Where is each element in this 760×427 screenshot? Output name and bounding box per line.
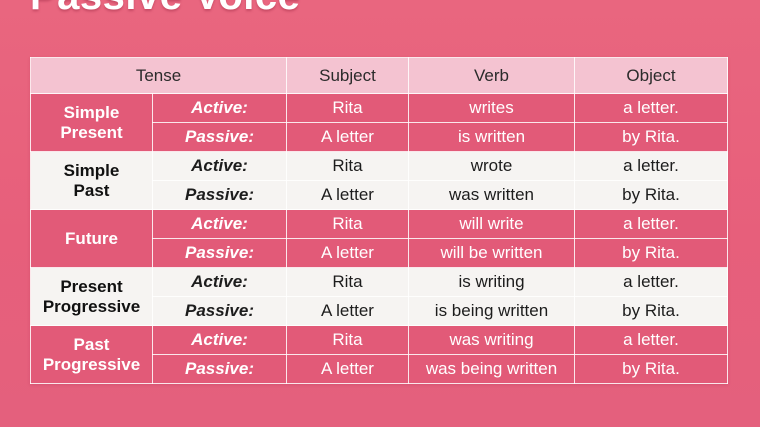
- table-header: Tense Subject Verb Object: [31, 58, 728, 94]
- table-row: FutureActive:Ritawill writea letter.: [31, 210, 728, 239]
- voice-label: Active:: [153, 94, 287, 123]
- voice-label: Passive:: [153, 355, 287, 384]
- tense-label: PresentProgressive: [31, 268, 153, 326]
- verb-cell: is writing: [409, 268, 575, 297]
- voice-label: Passive:: [153, 181, 287, 210]
- verb-cell: will be written: [409, 239, 575, 268]
- table-body: SimplePresentActive:Ritawritesa letter.P…: [31, 94, 728, 384]
- object-cell: by Rita.: [575, 355, 728, 384]
- object-cell: a letter.: [575, 268, 728, 297]
- subject-cell: A letter: [287, 181, 409, 210]
- column-header-tense: Tense: [31, 58, 287, 94]
- voice-label: Active:: [153, 326, 287, 355]
- table-header-row: Tense Subject Verb Object: [31, 58, 728, 94]
- object-cell: by Rita.: [575, 181, 728, 210]
- tense-label-line1: Past: [31, 335, 152, 355]
- subject-cell: A letter: [287, 123, 409, 152]
- tense-label: PastProgressive: [31, 326, 153, 384]
- tense-label-line2: Progressive: [31, 297, 152, 317]
- voice-label: Active:: [153, 152, 287, 181]
- tense-label: SimplePresent: [31, 94, 153, 152]
- verb-cell: will write: [409, 210, 575, 239]
- slide-canvas: Passive Voice Tense Subject Verb Object …: [0, 0, 760, 427]
- object-cell: by Rita.: [575, 239, 728, 268]
- table-row: SimplePresentActive:Ritawritesa letter.: [31, 94, 728, 123]
- subject-cell: Rita: [287, 210, 409, 239]
- page-title: Passive Voice: [30, 0, 300, 16]
- slide-title-container: Passive Voice: [30, 0, 450, 52]
- table-row: SimplePastActive:Ritawrotea letter.: [31, 152, 728, 181]
- tense-label: Future: [31, 210, 153, 268]
- verb-cell: is written: [409, 123, 575, 152]
- subject-cell: A letter: [287, 297, 409, 326]
- subject-cell: Rita: [287, 152, 409, 181]
- column-header-object: Object: [575, 58, 728, 94]
- object-cell: a letter.: [575, 210, 728, 239]
- verb-cell: was written: [409, 181, 575, 210]
- verb-cell: wrote: [409, 152, 575, 181]
- verb-cell: was being written: [409, 355, 575, 384]
- column-header-subject: Subject: [287, 58, 409, 94]
- object-cell: by Rita.: [575, 297, 728, 326]
- table-row: PastProgressiveActive:Ritawas writinga l…: [31, 326, 728, 355]
- subject-cell: Rita: [287, 268, 409, 297]
- verb-cell: was writing: [409, 326, 575, 355]
- voice-label: Active:: [153, 210, 287, 239]
- tense-label: SimplePast: [31, 152, 153, 210]
- subject-cell: Rita: [287, 326, 409, 355]
- subject-cell: Rita: [287, 94, 409, 123]
- voice-label: Active:: [153, 268, 287, 297]
- passive-voice-table: Tense Subject Verb Object SimplePresentA…: [30, 57, 728, 384]
- subject-cell: A letter: [287, 239, 409, 268]
- object-cell: by Rita.: [575, 123, 728, 152]
- column-header-verb: Verb: [409, 58, 575, 94]
- table-row: PresentProgressiveActive:Ritais writinga…: [31, 268, 728, 297]
- tense-label-line2: Present: [31, 123, 152, 143]
- bottom-strip: [0, 395, 760, 427]
- object-cell: a letter.: [575, 326, 728, 355]
- tense-label-line1: Present: [31, 277, 152, 297]
- object-cell: a letter.: [575, 152, 728, 181]
- subject-cell: A letter: [287, 355, 409, 384]
- verb-cell: writes: [409, 94, 575, 123]
- voice-label: Passive:: [153, 297, 287, 326]
- voice-label: Passive:: [153, 123, 287, 152]
- verb-cell: is being written: [409, 297, 575, 326]
- tense-label-line1: Simple: [31, 161, 152, 181]
- object-cell: a letter.: [575, 94, 728, 123]
- tense-label-line1: Simple: [31, 103, 152, 123]
- tense-label-line2: Past: [31, 181, 152, 201]
- voice-label: Passive:: [153, 239, 287, 268]
- tense-label-line2: Progressive: [31, 355, 152, 375]
